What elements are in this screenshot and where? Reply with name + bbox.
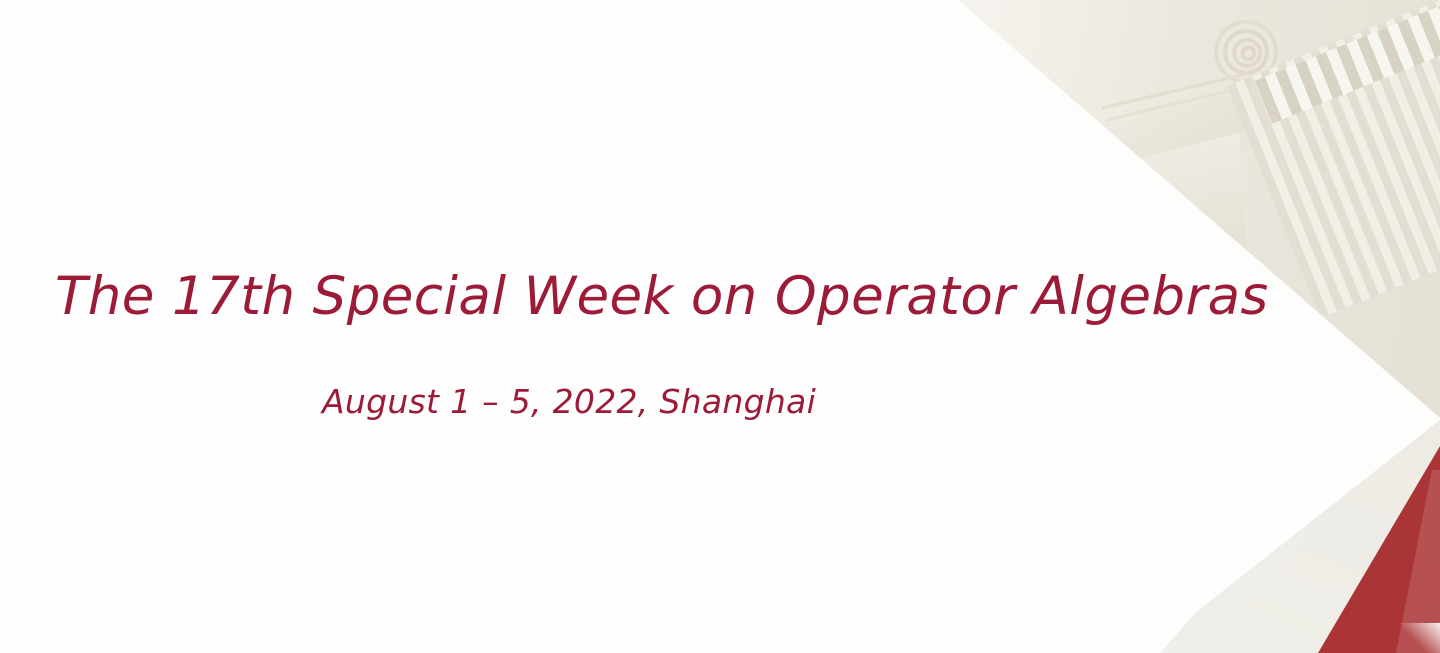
slide-subtitle: August 1 – 5, 2022, Shanghai xyxy=(322,382,816,421)
slide-title: The 17th Special Week on Operator Algebr… xyxy=(55,268,1195,326)
bottom-right-corner-wedge xyxy=(1400,623,1440,653)
title-slide: The 17th Special Week on Operator Algebr… xyxy=(0,0,1440,653)
